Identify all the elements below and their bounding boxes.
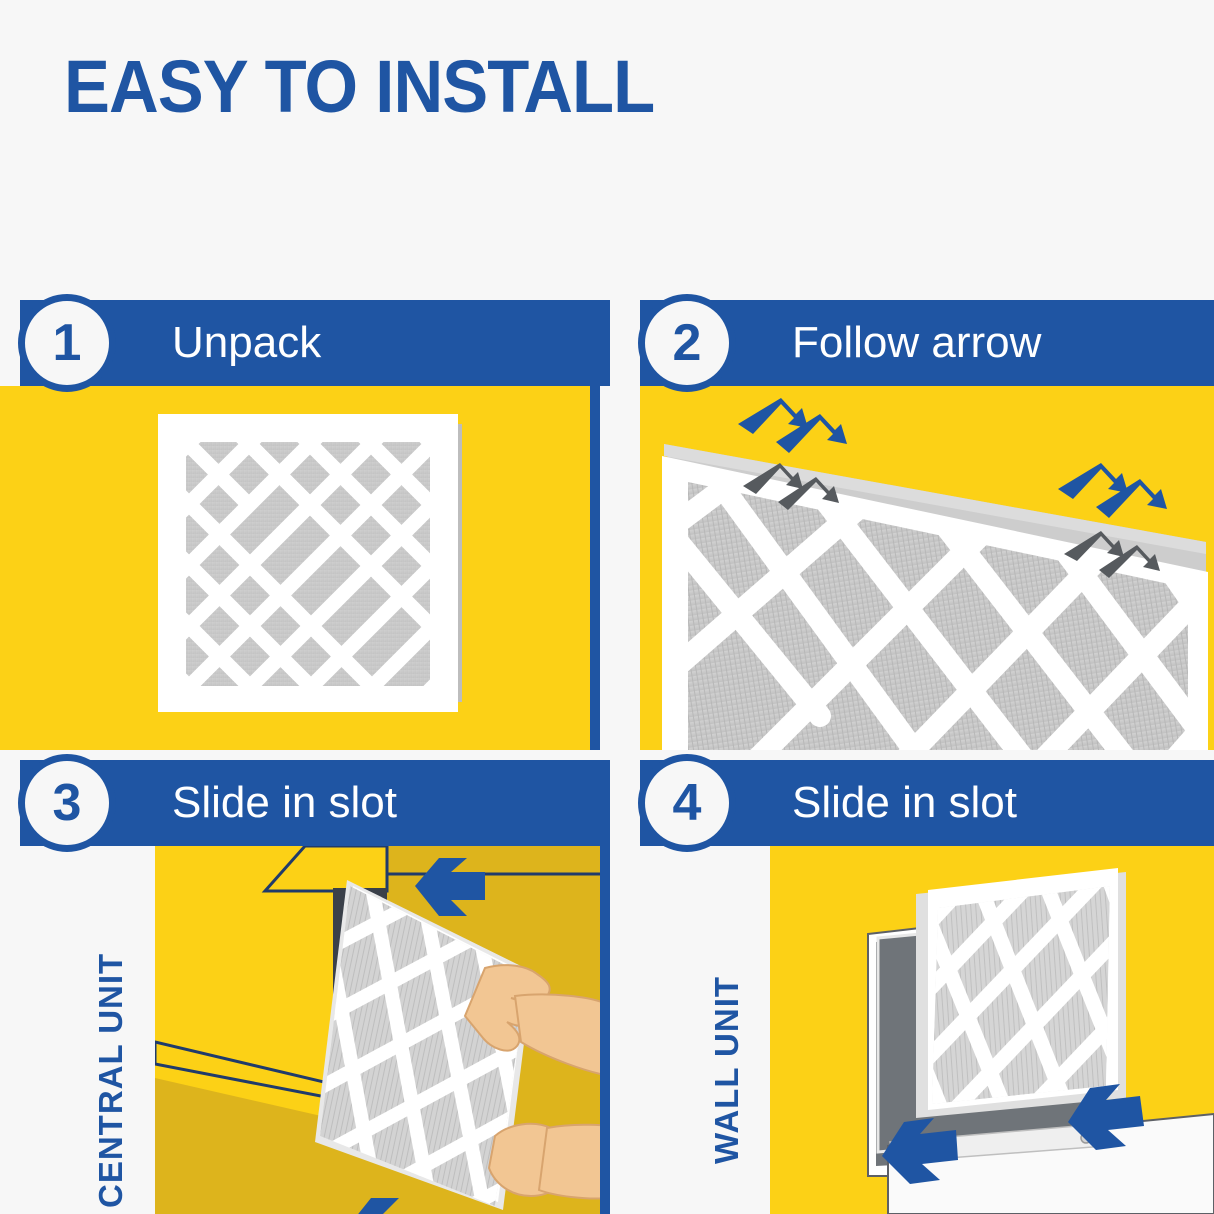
step-1-number-badge: 1	[18, 294, 116, 392]
step-4-side-label: WALL UNIT	[708, 976, 746, 1164]
air-filter-tilted-airflow-svg	[640, 386, 1214, 750]
step-panel-4: Slide in slot 4 WALL UNIT	[620, 760, 1214, 1214]
step-1-label: Unpack	[172, 321, 321, 365]
step-3-number-badge: 3	[18, 754, 116, 852]
wall-unit-install-svg	[770, 846, 1214, 1214]
airflow-arrow-blue-right	[1058, 463, 1167, 518]
page-title: EASY TO INSTALL	[64, 50, 654, 124]
step-3-illustration	[155, 846, 610, 1214]
air-filter-front-view-svg	[0, 386, 600, 750]
infographic-page: EASY TO INSTALL	[0, 0, 1214, 1214]
step-2-illustration	[640, 386, 1214, 750]
airflow-arrow-blue-left	[738, 398, 847, 453]
step-3-side-label: CENTRAL UNIT	[92, 953, 130, 1208]
step-3-label: Slide in slot	[172, 781, 397, 825]
step-2-label: Follow arrow	[792, 321, 1041, 365]
central-unit-install-svg	[155, 846, 610, 1214]
step-1-illustration	[0, 386, 600, 750]
step-4-label: Slide in slot	[792, 781, 1017, 825]
step-4-number-badge: 4	[638, 754, 736, 852]
step-4-illustration	[770, 846, 1214, 1214]
step-2-number-badge: 2	[638, 294, 736, 392]
hand-lower	[489, 1124, 610, 1199]
step-panel-2: Follow arrow 2	[620, 300, 1214, 750]
step-panel-3: Slide in slot 3 CENTRAL UNIT	[0, 760, 610, 1214]
step-panel-1: Unpack 1	[0, 300, 610, 750]
